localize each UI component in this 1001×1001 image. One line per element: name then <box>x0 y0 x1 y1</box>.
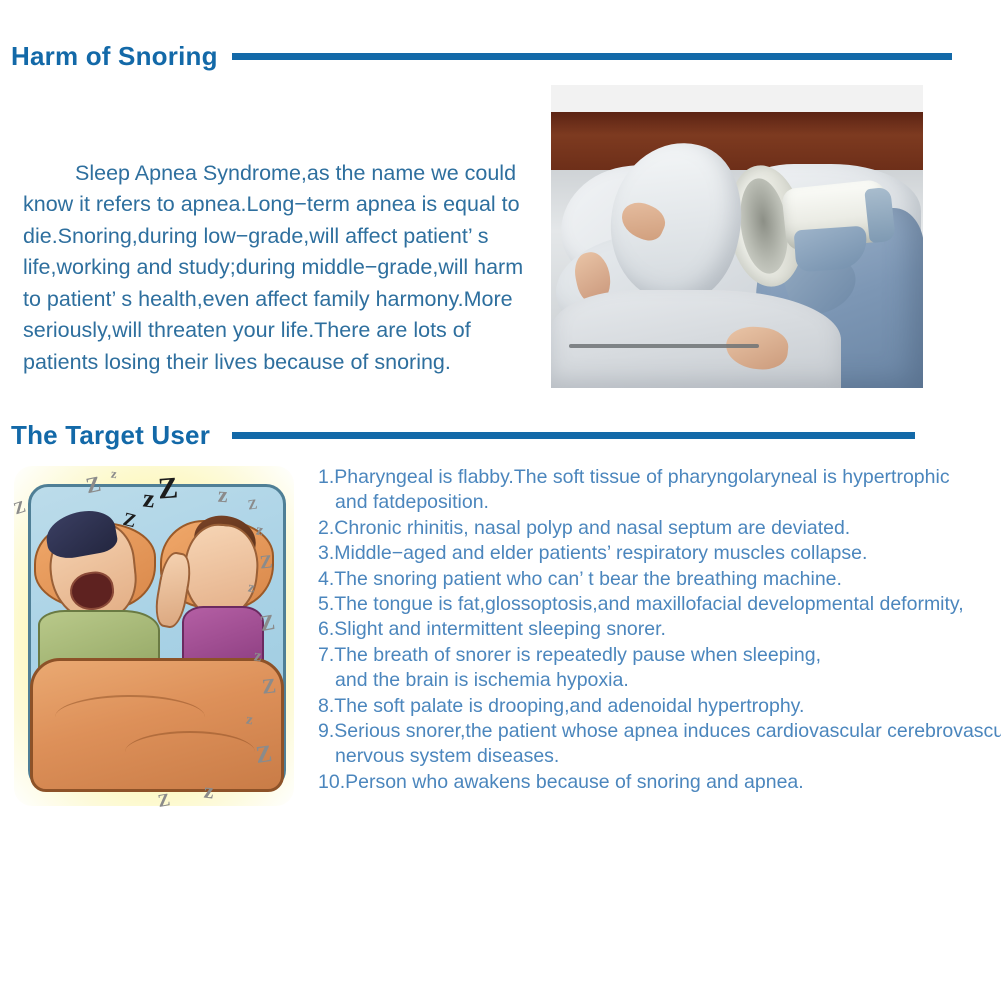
bed-edge-line <box>569 344 759 348</box>
section-heading-harm-of-snoring: Harm of Snoring <box>11 41 952 71</box>
heading-rule-line <box>232 432 915 439</box>
list-item: 4.The snoring patient who can’ t bear th… <box>318 567 998 592</box>
list-item: 7.The breath of snorer is repeatedly pau… <box>318 643 998 668</box>
list-item-continuation: and fatdeposition. <box>318 490 998 515</box>
list-item: 5.The tongue is fat,glossoptosis,and max… <box>318 592 998 617</box>
list-item: 6.Slight and intermittent sleeping snore… <box>318 617 998 642</box>
list-item-continuation: and the brain is ischemia hypoxia. <box>318 668 998 693</box>
the-target-user-title: The Target User <box>11 420 210 450</box>
list-item: 2.Chronic rhinitis, nasal polyp and nasa… <box>318 516 998 541</box>
section-heading-the-target-user: The Target User <box>11 420 915 450</box>
cartoon-z-glyph: Z <box>157 471 179 506</box>
bed-duvet <box>551 290 841 388</box>
list-item: 8.The soft palate is drooping,and adenoi… <box>318 694 998 719</box>
cartoon-z-glyph: z <box>217 482 229 509</box>
snoring-couple-photo-frame <box>551 85 923 388</box>
target-user-list: 1.Pharyngeal is flabby.The soft tissue o… <box>318 465 998 795</box>
list-item: 3.Middle−aged and elder patients’ respir… <box>318 541 998 566</box>
snoring-couple-photo <box>551 112 923 388</box>
list-item: 1.Pharyngeal is flabby.The soft tissue o… <box>318 465 998 490</box>
list-item-continuation: nervous system diseases. <box>318 744 998 769</box>
harm-of-snoring-paragraph: Sleep Apnea Syndrome,as the name we coul… <box>23 158 543 379</box>
harm-of-snoring-title: Harm of Snoring <box>11 41 218 71</box>
snoring-cartoon-illustration: ZzZzZZzZzZzZzZzZzZ <box>8 460 300 812</box>
list-item: 10.Person who awakens because of snoring… <box>318 770 998 795</box>
heading-rule-line <box>232 53 952 60</box>
cartoon-z-glyph: Z <box>259 551 274 574</box>
list-item: 9.Serious snorer,the patient whose apnea… <box>318 719 998 744</box>
cartoon-z-glyph: Z <box>261 673 278 699</box>
